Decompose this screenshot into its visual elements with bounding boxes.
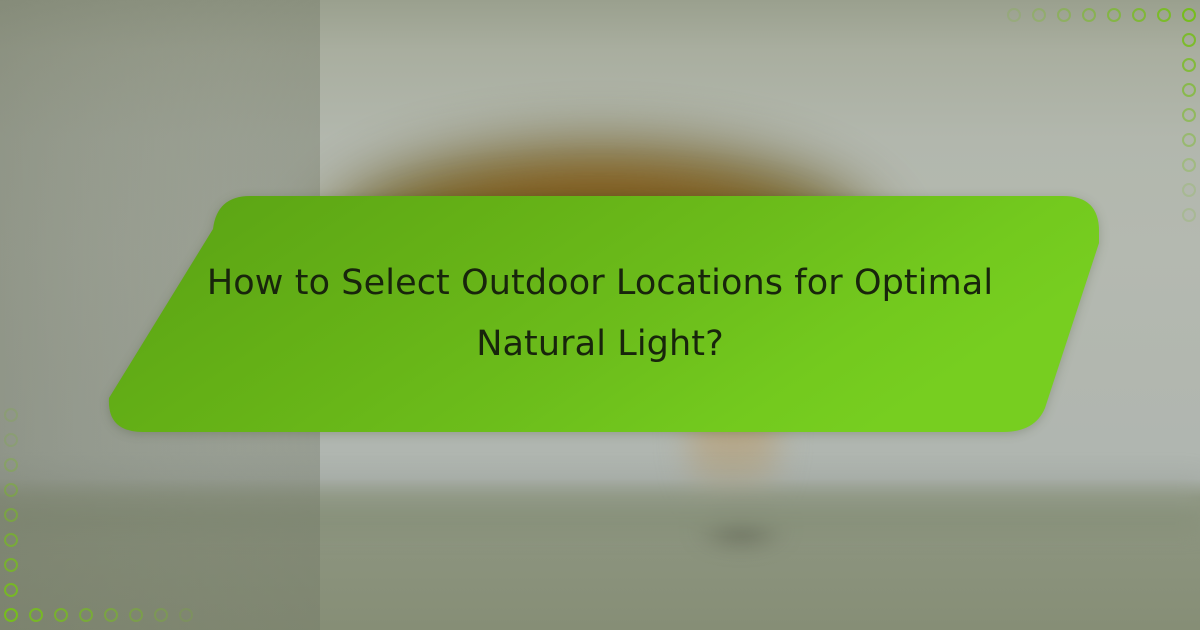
decoration-ring: [1182, 183, 1196, 197]
title-banner-shape: [109, 196, 1099, 432]
decoration-ring: [4, 583, 18, 597]
decoration-ring: [4, 433, 18, 447]
decoration-ring: [154, 608, 168, 622]
decoration-ring: [4, 408, 18, 422]
decoration-ring: [4, 458, 18, 472]
decoration-ring: [1182, 108, 1196, 122]
decoration-ring: [1057, 8, 1071, 22]
decoration-ring: [104, 608, 118, 622]
decoration-ring: [54, 608, 68, 622]
decoration-ring: [1182, 8, 1196, 22]
decoration-ring: [4, 533, 18, 547]
decoration-ring: [1007, 8, 1021, 22]
decoration-ring: [1182, 208, 1196, 222]
decoration-ring: [4, 558, 18, 572]
social-card: How to Select Outdoor Locations for Opti…: [0, 0, 1200, 630]
decoration-ring: [1132, 8, 1146, 22]
decoration-ring: [1107, 8, 1121, 22]
decoration-ring: [29, 608, 43, 622]
decoration-ring: [129, 608, 143, 622]
decoration-ring: [179, 608, 193, 622]
decoration-ring: [4, 608, 18, 622]
decoration-ring: [1182, 58, 1196, 72]
decoration-ring: [4, 483, 18, 497]
decoration-ring: [1182, 158, 1196, 172]
decoration-ring: [79, 608, 93, 622]
decoration-rings-bottom-left: [0, 415, 210, 630]
decoration-ring: [4, 508, 18, 522]
decoration-ring: [1182, 133, 1196, 147]
decoration-ring: [1032, 8, 1046, 22]
decoration-ring: [1182, 83, 1196, 97]
decoration-ring: [1082, 8, 1096, 22]
decoration-ring: [1157, 8, 1171, 22]
decoration-rings-top-right: [990, 0, 1200, 215]
decoration-ring: [1182, 33, 1196, 47]
title-banner: [95, 193, 1105, 435]
